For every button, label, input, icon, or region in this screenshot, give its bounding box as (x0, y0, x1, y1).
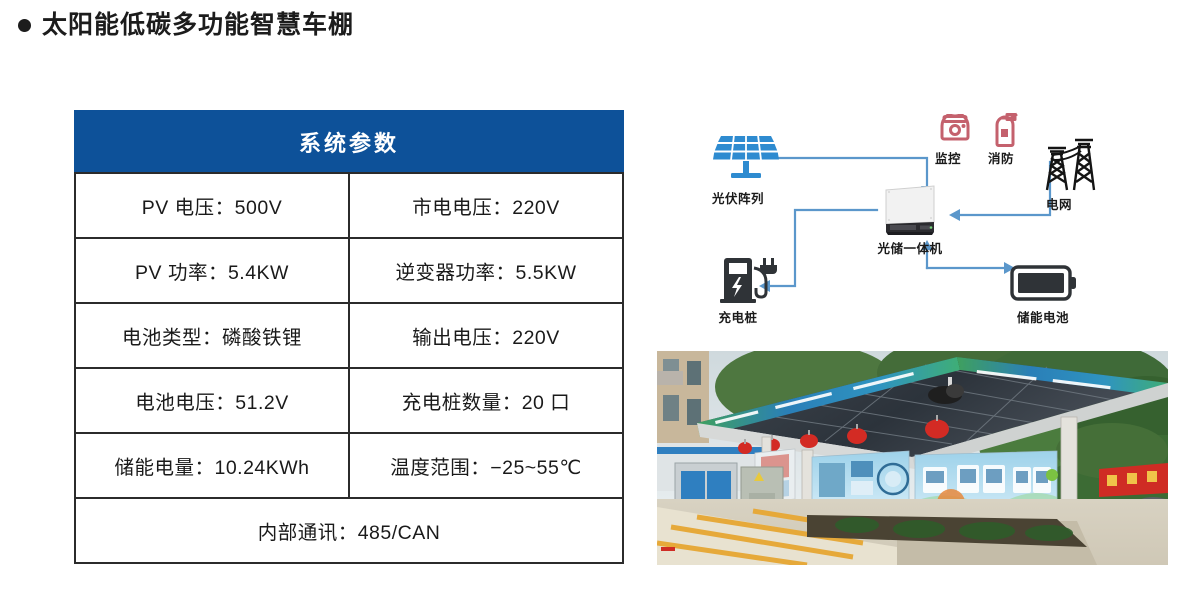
solar-carport-photo (657, 351, 1168, 565)
cell-pv-voltage: PV 电压：500V (75, 173, 349, 238)
node-label-grid: 电网 (1021, 194, 1097, 213)
power-tower-icon (1033, 138, 1099, 192)
system-parameters-table: 系统参数 PV 电压：500V 市电电压：220V PV 功率：5.4KW 逆变… (74, 110, 624, 564)
node-label-monitor: 监控 (918, 148, 978, 167)
table-row: 储能电量：10.24KWh 温度范围：−25~55℃ (75, 433, 623, 498)
page-title: 太阳能低碳多功能智慧车棚 (18, 13, 354, 38)
page-title-text: 太阳能低碳多功能智慧车棚 (42, 13, 354, 38)
table-header-row: 系统参数 (75, 111, 623, 173)
node-label-inverter: 光储一体机 (845, 238, 975, 257)
cell-inverter-power: 逆变器功率：5.5KW (349, 238, 623, 303)
cell-charger-count: 充电桩数量：20 口 (349, 368, 623, 433)
cell-temperature-range: 温度范围：−25~55℃ (349, 433, 623, 498)
cell-battery-type: 电池类型：磷酸铁锂 (75, 303, 349, 368)
photo-content (657, 351, 1168, 565)
table-row: 内部通讯：485/CAN (75, 498, 623, 563)
storage-battery-icon (1010, 263, 1078, 303)
arrowhead-grid-left (949, 209, 960, 221)
cell-storage-capacity: 储能电量：10.24KWh (75, 433, 349, 498)
cell-internal-communication: 内部通讯：485/CAN (75, 498, 623, 563)
cell-battery-voltage: 电池电压：51.2V (75, 368, 349, 433)
bullet-dot-icon (18, 19, 31, 32)
table-row: 电池电压：51.2V 充电桩数量：20 口 (75, 368, 623, 433)
table-header-title: 系统参数 (75, 111, 623, 173)
security-camera-icon (938, 114, 972, 146)
charging-pile-icon (718, 255, 778, 303)
cell-pv-power: PV 功率：5.4KW (75, 238, 349, 303)
node-label-battery: 储能电池 (997, 307, 1089, 326)
table-row: PV 电压：500V 市电电压：220V (75, 173, 623, 238)
system-flow-diagram: 光伏阵列 监控 消防 (655, 100, 1175, 345)
node-label-pv-array: 光伏阵列 (683, 188, 793, 207)
node-label-charger: 充电桩 (695, 307, 781, 326)
inverter-cabinet-icon (880, 182, 942, 238)
table-row: 电池类型：磷酸铁锂 输出电压：220V (75, 303, 623, 368)
node-label-fire: 消防 (971, 148, 1031, 167)
cell-mains-voltage: 市电电压：220V (349, 173, 623, 238)
fire-extinguisher-icon (989, 112, 1021, 147)
table-row: PV 功率：5.4KW 逆变器功率：5.5KW (75, 238, 623, 303)
solar-panel-icon (713, 132, 779, 184)
cell-output-voltage: 输出电压：220V (349, 303, 623, 368)
